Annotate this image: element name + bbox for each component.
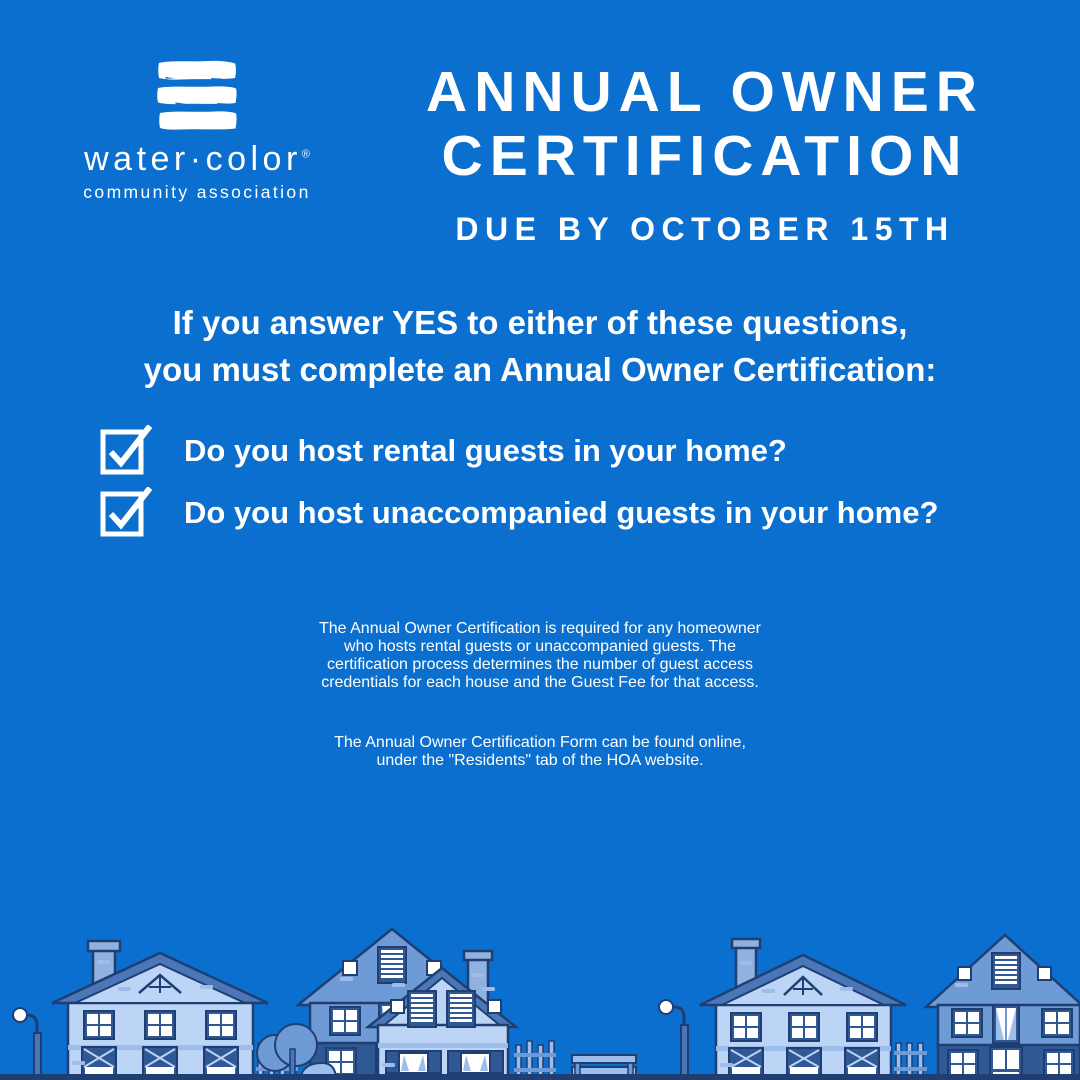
- logo-tagline: community association: [52, 182, 342, 203]
- neighborhood-skyline: [0, 915, 1080, 1080]
- question-label: Do you host rental guests in your home?: [184, 435, 787, 466]
- paragraph-1-line-3: certification process determines the num…: [55, 656, 1025, 674]
- ground-line: [0, 1074, 1080, 1080]
- checkbox-checked-icon: [100, 425, 152, 475]
- page-title-line2: CERTIFICATION: [360, 124, 1050, 188]
- skyline-svg: [0, 915, 1080, 1080]
- question-label: Do you host unaccompanied guests in your…: [184, 497, 938, 528]
- registered-trademark-icon: ®: [302, 149, 310, 161]
- title-block: ANNUAL OWNER CERTIFICATION DUE BY OCTOBE…: [360, 60, 1050, 248]
- intro-line-2: you must complete an Annual Owner Certif…: [60, 347, 1020, 394]
- intro-line-1: If you answer YES to either of these que…: [60, 300, 1020, 347]
- checkbox-checked-icon: [100, 487, 152, 537]
- logo-wordmark-text: water·color: [84, 140, 302, 178]
- watercolor-logo: water·color® community association: [52, 58, 342, 203]
- paragraph-2-line-1: The Annual Owner Certification Form can …: [55, 734, 1025, 752]
- questions-checklist: Do you host rental guests in your home? …: [100, 425, 1040, 549]
- page-title-line1: ANNUAL OWNER: [360, 60, 1050, 124]
- paragraph-1-line-2: who hosts rental guests or unaccompanied…: [55, 638, 1025, 656]
- watercolor-brush-mark: [151, 58, 243, 136]
- intro-text: If you answer YES to either of these que…: [60, 300, 1020, 394]
- paragraph-1-line-1: The Annual Owner Certification is requir…: [55, 620, 1025, 638]
- list-item: Do you host rental guests in your home?: [100, 425, 1040, 475]
- logo-wordmark: water·color®: [84, 142, 310, 176]
- header: water·color® community association ANNUA…: [0, 0, 1080, 270]
- paragraph-1-line-4: credentials for each house and the Guest…: [55, 674, 1025, 692]
- house: [316, 955, 335, 1008]
- body-text: The Annual Owner Certification is requir…: [55, 578, 1025, 786]
- paragraph-2-line-2: under the "Residents" tab of the HOA web…: [55, 752, 1025, 770]
- poster: water·color® community association ANNUA…: [0, 0, 1080, 1080]
- list-item: Do you host unaccompanied guests in your…: [100, 487, 1040, 537]
- due-date-subtitle: DUE BY OCTOBER 15TH: [360, 211, 1050, 248]
